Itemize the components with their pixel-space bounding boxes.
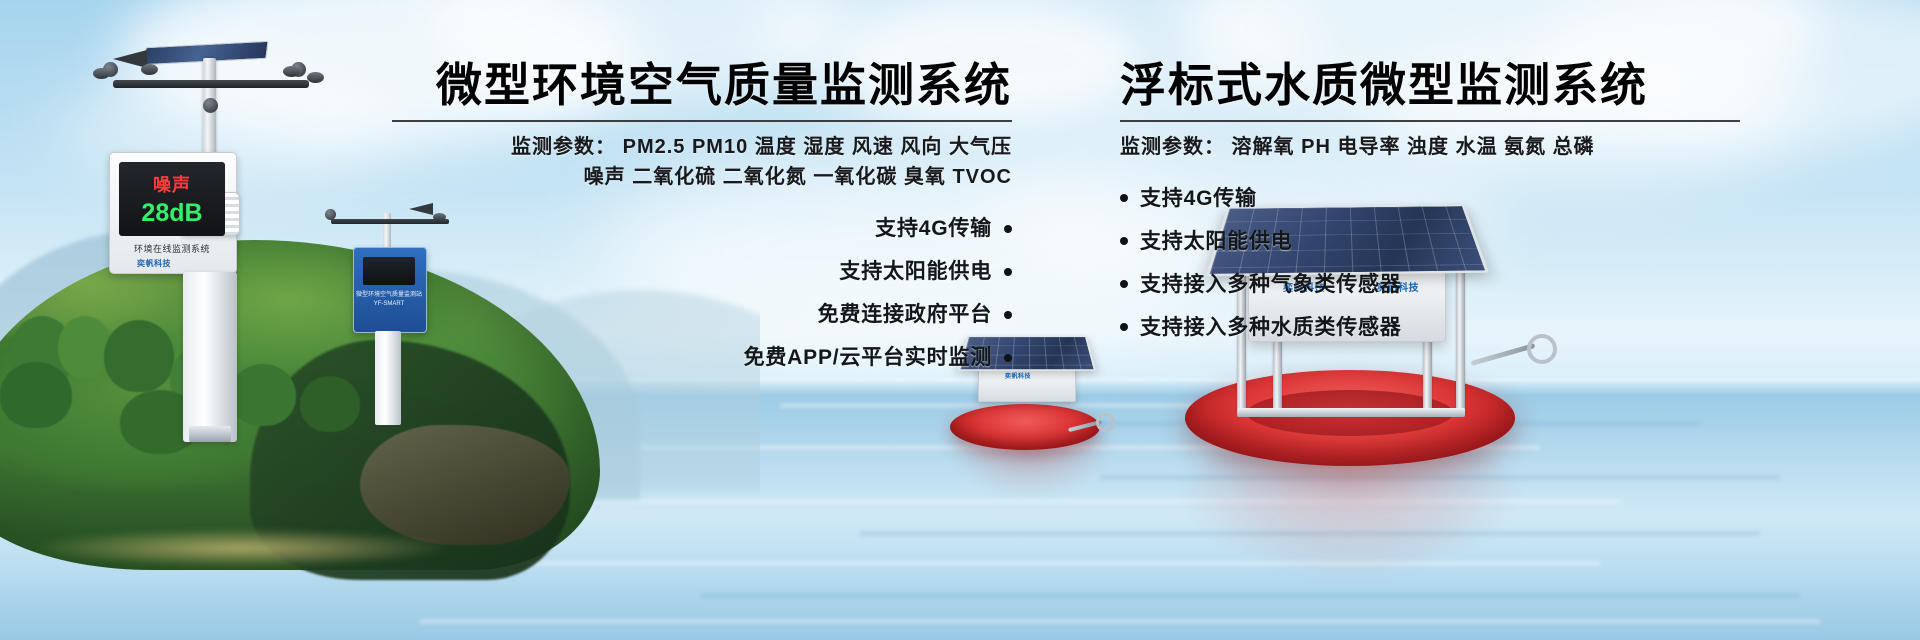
list-item: 免费连接政府平台	[392, 304, 1012, 325]
probe-sensor-icon	[1096, 413, 1115, 432]
list-item: 支持接入多种气象类传感器	[1120, 274, 1740, 295]
right-feature-list: 支持4G传输 支持太阳能供电 支持接入多种气象类传感器 支持接入多种水质类传感器	[1120, 188, 1740, 338]
left-text-panel: 微型环境空气质量监测系统 监测参数： PM2.5 PM10 温度 湿度 风速 风…	[392, 60, 1012, 390]
frame-beam	[1237, 408, 1465, 417]
banner-stage: 噪声 28dB 环境在线监测系统 奕帆科技 微型环境空气质量监测站 YF-SMA…	[0, 0, 1920, 640]
bullet-dot-icon	[1004, 311, 1012, 319]
air-quality-station: 噪声 28dB 环境在线监测系统 奕帆科技	[85, 22, 345, 442]
right-feature-2: 支持太阳能供电	[1140, 231, 1293, 252]
right-feature-4: 支持接入多种水质类传感器	[1140, 317, 1402, 338]
anemometer-cup-icon	[141, 64, 158, 75]
rock-shape	[360, 425, 570, 545]
noise-label: 噪声	[153, 171, 191, 197]
right-text-panel: 浮标式水质微型监测系统 监测参数： 溶解氧 PH 电导率 浊度 水温 氨氮 总磷…	[1120, 60, 1740, 360]
list-item: 支持接入多种水质类传感器	[1120, 317, 1740, 338]
shoreline-glow	[0, 528, 600, 588]
list-item: 支持太阳能供电	[1120, 231, 1740, 252]
water-ripple	[700, 594, 1800, 597]
bullet-dot-icon	[1004, 354, 1012, 362]
bullet-dot-icon	[1120, 323, 1128, 331]
bullet-dot-icon	[1120, 237, 1128, 245]
left-feature-list: 支持4G传输 支持太阳能供电 免费连接政府平台 免费APP/云平台实时监测	[392, 218, 1012, 368]
left-params-line1: 监测参数： PM2.5 PM10 温度 湿度 风速 风向 大气压	[511, 136, 1012, 158]
left-feature-3: 免费连接政府平台	[818, 304, 992, 325]
right-divider	[1120, 120, 1740, 122]
right-params-line1: 监测参数： 溶解氧 PH 电导率 浊度 水温 氨氮 总磷	[1120, 136, 1595, 158]
bullet-dot-icon	[1004, 268, 1012, 276]
left-divider	[392, 120, 1012, 122]
list-item: 免费APP/云平台实时监测	[392, 347, 1012, 368]
left-feature-4: 免费APP/云平台实时监测	[744, 347, 992, 368]
anemometer-cup-icon	[283, 66, 300, 77]
right-feature-3: 支持接入多种气象类传感器	[1140, 274, 1402, 295]
right-params: 监测参数： 溶解氧 PH 电导率 浊度 水温 氨氮 总磷	[1120, 132, 1740, 162]
bullet-dot-icon	[1004, 225, 1012, 233]
tree-shape	[0, 362, 72, 428]
bullet-dot-icon	[1120, 194, 1128, 202]
right-title: 浮标式水质微型监测系统	[1120, 60, 1740, 112]
left-title: 微型环境空气质量监测系统	[392, 60, 1012, 112]
anemometer-icon	[325, 209, 336, 220]
station-caption: 环境在线监测系统	[109, 242, 235, 255]
left-feature-1: 支持4G传输	[875, 218, 992, 239]
list-item: 支持太阳能供电	[392, 261, 1012, 282]
station-pole-base	[183, 272, 237, 442]
right-feature-1: 支持4G传输	[1140, 188, 1257, 209]
noise-display-screen: 噪声 28dB	[119, 162, 225, 236]
anemometer-cup-icon	[93, 68, 110, 79]
anemometer-cup-icon	[307, 72, 324, 83]
sensor-node-icon	[203, 98, 218, 113]
left-params-line2: 噪声 二氧化硫 二氧化氮 一氧化碳 臭氧 TVOC	[392, 162, 1012, 192]
left-params: 监测参数： PM2.5 PM10 温度 湿度 风速 风向 大气压 噪声 二氧化硫…	[392, 132, 1012, 193]
station-foot	[189, 426, 231, 442]
sensor-crossbar	[113, 80, 309, 88]
noise-value: 28dB	[141, 199, 202, 228]
list-item: 支持4G传输	[1120, 188, 1740, 209]
left-feature-2: 支持太阳能供电	[839, 261, 992, 282]
bullet-dot-icon	[1120, 280, 1128, 288]
station-brand: 奕帆科技	[137, 258, 171, 269]
list-item: 支持4G传输	[392, 218, 1012, 239]
